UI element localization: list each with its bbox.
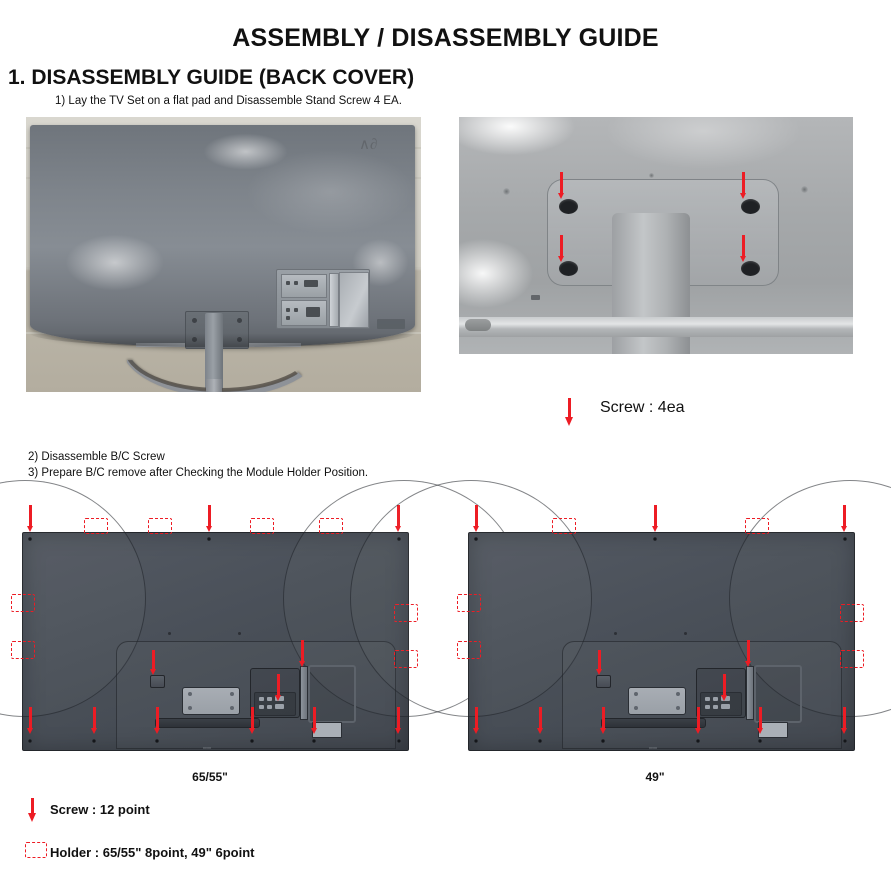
- speaker-bar: [155, 718, 260, 728]
- page-title: ASSEMBLY / DISASSEMBLY GUIDE: [0, 24, 891, 53]
- screw-point: [250, 739, 254, 743]
- step-text-2: 2) Disassemble B/C Screw: [28, 451, 165, 463]
- brand-logo: ▭▭: [203, 745, 211, 750]
- screw-hole-bottom-left: [559, 261, 578, 276]
- tv-diagram-49: ▭▭: [468, 532, 853, 749]
- legend-holder-label: Holder : 65/55" 8point, 49" 6point: [50, 845, 254, 860]
- screw-point: [28, 739, 32, 743]
- holder-marker: [11, 641, 35, 659]
- io-cover-door: [339, 272, 369, 328]
- brand-logo: ▭▭: [649, 745, 657, 750]
- holder-marker: [457, 641, 481, 659]
- screw-point: [155, 739, 159, 743]
- stand-foot: [206, 379, 222, 392]
- screw-point: [843, 537, 847, 541]
- io-cover-hinge: [300, 666, 308, 720]
- io-cover-hinge: [329, 273, 339, 327]
- bottom-rail: [459, 317, 853, 337]
- screw-point: [843, 739, 847, 743]
- screw-point: [28, 537, 32, 541]
- diagram-label-65-55: 65/55": [0, 770, 420, 784]
- section-title: 1. DISASSEMBLY GUIDE (BACK COVER): [8, 66, 414, 90]
- screw-point: [312, 739, 316, 743]
- holder-marker: [319, 518, 343, 534]
- screw-point: [696, 739, 700, 743]
- screw-point: [92, 739, 96, 743]
- antenna-jack: [150, 675, 165, 688]
- step-text-1: 1) Lay the TV Set on a flat pad and Disa…: [55, 95, 402, 107]
- legend-holder-box-icon: [25, 842, 47, 858]
- panel-detail-dot: [614, 632, 617, 635]
- screw-hole-top-left: [559, 199, 578, 214]
- panel-detail-dot: [238, 632, 241, 635]
- screw-point: [207, 537, 211, 541]
- screw-point: [474, 537, 478, 541]
- screw-point: [601, 739, 605, 743]
- screw-point: [397, 739, 401, 743]
- screw-hole-bottom-right: [741, 261, 760, 276]
- holder-marker: [840, 604, 864, 622]
- holder-marker: [552, 518, 576, 534]
- io-port-panel: [276, 269, 370, 329]
- vent-slot: [531, 295, 540, 300]
- holder-marker: [11, 594, 35, 612]
- holder-marker: [84, 518, 108, 534]
- diagram-label-49: 49": [450, 770, 860, 784]
- stand-screw-photo: [459, 117, 853, 354]
- screw-point: [474, 739, 478, 743]
- holder-marker: [457, 594, 481, 612]
- alignment-hole-left: [503, 188, 510, 195]
- rating-label: [377, 319, 405, 329]
- io-slot-upper: [281, 274, 327, 298]
- speaker-bar: [601, 718, 706, 728]
- vesa-plate: [182, 687, 240, 715]
- vesa-plate: [628, 687, 686, 715]
- center-pin-hole: [649, 173, 654, 178]
- holder-marker: [840, 650, 864, 668]
- holder-marker: [745, 518, 769, 534]
- antenna-jack: [596, 675, 611, 688]
- tv-rear-photo: ∧∂: [26, 117, 421, 392]
- surface-scuff-mark: ∧∂: [359, 135, 393, 157]
- step-text-3: 3) Prepare B/C remove after Checking the…: [28, 467, 368, 479]
- screw-point: [653, 537, 657, 541]
- screw-4ea-label: Screw : 4ea: [600, 399, 684, 417]
- screw-point: [538, 739, 542, 743]
- legend-screw-label: Screw : 12 point: [50, 802, 150, 817]
- alignment-hole-right: [801, 186, 808, 193]
- holder-marker: [148, 518, 172, 534]
- screw-point: [758, 739, 762, 743]
- holder-marker: [250, 518, 274, 534]
- io-slot-lower: [281, 300, 327, 326]
- tv-diagram-65-55: ▭▭: [22, 532, 407, 749]
- io-cover-hinge: [746, 666, 754, 720]
- panel-detail-dot: [684, 632, 687, 635]
- screw-hole-top-right: [741, 199, 760, 214]
- panel-detail-dot: [168, 632, 171, 635]
- rail-end-cap: [465, 319, 491, 331]
